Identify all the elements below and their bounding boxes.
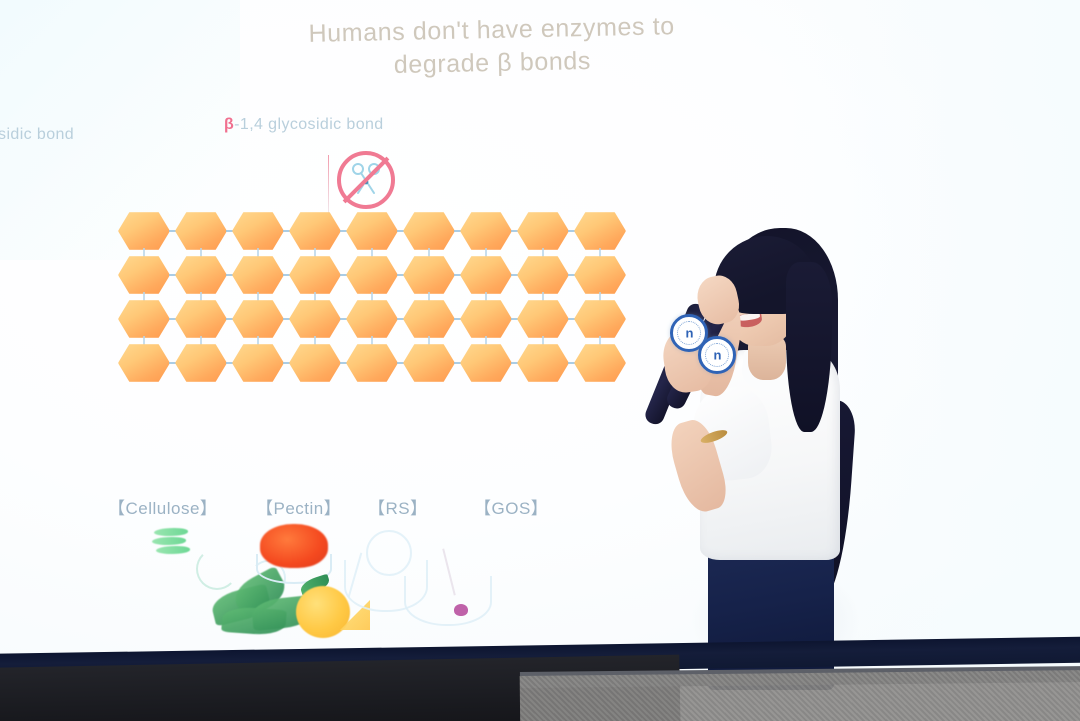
- slide-title: Humans don't have enzymes to degrade β b…: [231, 9, 752, 86]
- glycosidic-bond-link: [169, 362, 176, 364]
- glycosidic-bond-link: [454, 230, 461, 232]
- glycosidic-bond-link: [226, 318, 233, 320]
- glycosidic-bond-link: [283, 230, 290, 232]
- glycosidic-bond-link: [397, 318, 404, 320]
- glycosidic-bond-link: [283, 318, 290, 320]
- microphone-flag-two: n: [698, 336, 736, 374]
- alpha-glycosidic-bond-label: lycosidic bond: [0, 126, 74, 144]
- leafy-greens-illustration: [152, 528, 190, 558]
- glycosidic-bond-link: [397, 274, 404, 276]
- glycosidic-bond-link: [568, 362, 575, 364]
- glycosidic-bond-link: [169, 274, 176, 276]
- glycosidic-bond-link: [511, 362, 518, 364]
- fibre-label-2: 【RS】: [368, 494, 428, 519]
- teacup-illustration: [366, 530, 412, 576]
- jam-bowl-illustration: [256, 524, 332, 582]
- glycosidic-bond-link: [454, 318, 461, 320]
- glycosidic-bond-link: [511, 274, 518, 276]
- alpha-bond-text: lycosidic bond: [0, 126, 74, 143]
- citrus-fruit-illustration: [296, 586, 350, 638]
- glycosidic-bond-link: [340, 362, 347, 364]
- fibre-label-3: 【GOS】: [474, 494, 548, 519]
- berry-illustration: [454, 604, 468, 616]
- glycosidic-bond-link: [568, 274, 575, 276]
- glycosidic-bond-link: [226, 230, 233, 232]
- glycosidic-bond-link: [283, 362, 290, 364]
- glycosidic-bond-link: [454, 362, 461, 364]
- fibre-label-1: 【Pectin】: [256, 494, 341, 519]
- glycosidic-bond-link: [511, 318, 518, 320]
- glycosidic-bond-link: [511, 230, 518, 232]
- flag-emblem-two: n: [714, 348, 721, 363]
- glycosidic-bond-link: [283, 274, 290, 276]
- glycosidic-bond-link: [226, 362, 233, 364]
- no-scissors-icon: [337, 151, 395, 209]
- beta-bond-text: -1,4 glycosidic bond: [234, 116, 383, 133]
- glycosidic-bond-link: [454, 274, 461, 276]
- glycosidic-bond-link: [397, 230, 404, 232]
- glycosidic-bond-link: [169, 318, 176, 320]
- fibre-label-0: 【Cellulose】: [108, 494, 217, 519]
- beta-glycosidic-bond-label: β-1,4 glycosidic bond: [224, 116, 384, 134]
- flag-emblem-one: n: [686, 326, 693, 341]
- pointer-line: [328, 155, 329, 221]
- screenshot-stage: Humans don't have enzymes to degrade β b…: [0, 0, 1080, 721]
- glycosidic-bond-link: [340, 274, 347, 276]
- beta-symbol: β: [224, 116, 234, 133]
- glycosidic-bond-link: [340, 230, 347, 232]
- glycosidic-bond-link: [568, 318, 575, 320]
- glycosidic-bond-link: [568, 230, 575, 232]
- floor-textured: [520, 670, 1080, 721]
- glycosidic-bond-link: [226, 274, 233, 276]
- glass-bowl-illustration-two: [404, 576, 492, 626]
- glycosidic-bond-link: [397, 362, 404, 364]
- glycosidic-bond-link: [340, 318, 347, 320]
- glycosidic-bond-link: [169, 230, 176, 232]
